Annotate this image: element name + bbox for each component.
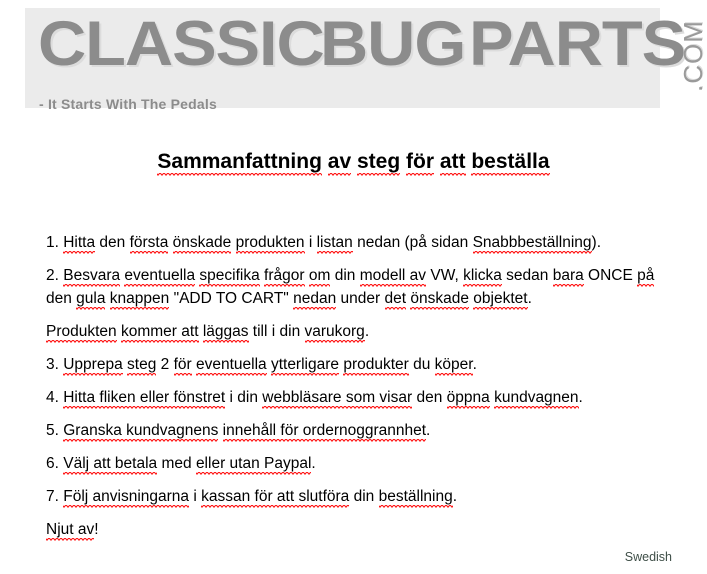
misspelled-run: på bbox=[637, 267, 654, 287]
paragraph-step-2: 2. Besvara eventuella specifika frågor o… bbox=[46, 264, 666, 310]
misspelled-run: önskade bbox=[410, 290, 469, 310]
misspelled-run: varukorg bbox=[305, 323, 365, 343]
title-word: av bbox=[328, 150, 351, 176]
misspelled-run: Hitta fliken eller fönstret bbox=[63, 389, 225, 409]
title-word: att bbox=[440, 150, 466, 176]
misspelled-run: specifika bbox=[199, 267, 259, 287]
misspelled-run: steg bbox=[127, 356, 156, 376]
page-title-text: Sammanfattning av steg för att beställa bbox=[157, 150, 549, 176]
misspelled-run: modell av bbox=[360, 267, 426, 287]
logo-word-bug: BUG bbox=[320, 10, 465, 78]
misspelled-run: Besvara bbox=[63, 267, 120, 287]
misspelled-run: för bbox=[174, 356, 192, 376]
misspelled-run: Snabbbeställning bbox=[473, 234, 592, 254]
logo-tagline: - It Starts With The Pedals bbox=[39, 96, 217, 112]
misspelled-run: objektet bbox=[473, 290, 527, 310]
misspelled-run: klicka bbox=[463, 267, 502, 287]
paragraph-step-7: 7. Följ anvisningarna i kassan för att s… bbox=[46, 485, 666, 508]
instruction-list: 1. Hitta den första önskade produkten i … bbox=[46, 231, 666, 551]
paragraph-cart-note: Produkten kommer att läggas till i din v… bbox=[46, 320, 666, 343]
misspelled-run: Granska kundvagnens bbox=[63, 422, 218, 442]
misspelled-run: det bbox=[385, 290, 407, 310]
misspelled-run: eventuella bbox=[196, 356, 267, 376]
misspelled-run: produkter bbox=[343, 356, 408, 376]
misspelled-run: eller utan Paypal bbox=[196, 455, 311, 475]
misspelled-run: Upprepa bbox=[63, 356, 122, 376]
misspelled-run: kassan för att slutföra bbox=[201, 488, 349, 508]
misspelled-run: produkten bbox=[236, 234, 305, 254]
misspelled-run: första bbox=[130, 234, 169, 254]
logo-wordmark: CLASSIC BUG PARTS .COM bbox=[38, 10, 707, 92]
logo-word-classic: CLASSIC bbox=[38, 10, 324, 78]
site-logo-banner: CLASSIC BUG PARTS .COM - It Starts With … bbox=[25, 8, 660, 108]
page-title: Sammanfattning av steg för att beställa bbox=[0, 150, 707, 174]
title-word: beställa bbox=[471, 150, 549, 176]
misspelled-run: kundvagnen bbox=[494, 389, 578, 409]
paragraph-step-4: 4. Hitta fliken eller fönstret i din web… bbox=[46, 386, 666, 409]
logo-word-parts: PARTS bbox=[469, 10, 685, 78]
misspelled-run: listan bbox=[317, 234, 353, 254]
misspelled-run: öppna bbox=[447, 389, 490, 409]
misspelled-run: webbläsare som visar bbox=[262, 389, 412, 409]
misspelled-run: knappen bbox=[110, 290, 169, 310]
misspelled-run: Njut av bbox=[46, 521, 94, 541]
misspelled-run: köper bbox=[435, 356, 473, 376]
misspelled-run: gula bbox=[76, 290, 105, 310]
misspelled-run: Följ anvisningarna bbox=[63, 488, 189, 508]
logo-dotcom-text: .COM bbox=[678, 14, 707, 92]
misspelled-run: Hitta bbox=[63, 234, 95, 254]
misspelled-run: läggas bbox=[203, 323, 249, 343]
misspelled-run: beställning bbox=[379, 488, 453, 508]
title-word: Sammanfattning bbox=[157, 150, 322, 176]
misspelled-run: ytterligare bbox=[271, 356, 339, 376]
title-word: steg bbox=[357, 150, 400, 176]
paragraph-step-6: 6. Välj att betala med eller utan Paypal… bbox=[46, 452, 666, 475]
misspelled-run: Välj att betala bbox=[63, 455, 157, 475]
misspelled-run: nedan bbox=[293, 290, 336, 310]
misspelled-run: frågor bbox=[264, 267, 305, 287]
misspelled-run: eventuella bbox=[124, 267, 195, 287]
misspelled-run: kommer att bbox=[121, 323, 199, 343]
language-label: Swedish bbox=[625, 550, 672, 564]
paragraph-step-1: 1. Hitta den första önskade produkten i … bbox=[46, 231, 666, 254]
misspelled-run: bara bbox=[553, 267, 584, 287]
paragraph-step-3: 3. Upprepa steg 2 för eventuella ytterli… bbox=[46, 353, 666, 376]
paragraph-closing: Njut av! bbox=[46, 518, 666, 541]
title-word: för bbox=[406, 150, 434, 176]
misspelled-run: Produkten bbox=[46, 323, 117, 343]
misspelled-run: innehåll för ordernoggrannhet bbox=[223, 422, 426, 442]
paragraph-step-5: 5. Granska kundvagnens innehåll för orde… bbox=[46, 419, 666, 442]
misspelled-run: önskade bbox=[173, 234, 232, 254]
misspelled-run: om bbox=[309, 267, 331, 287]
